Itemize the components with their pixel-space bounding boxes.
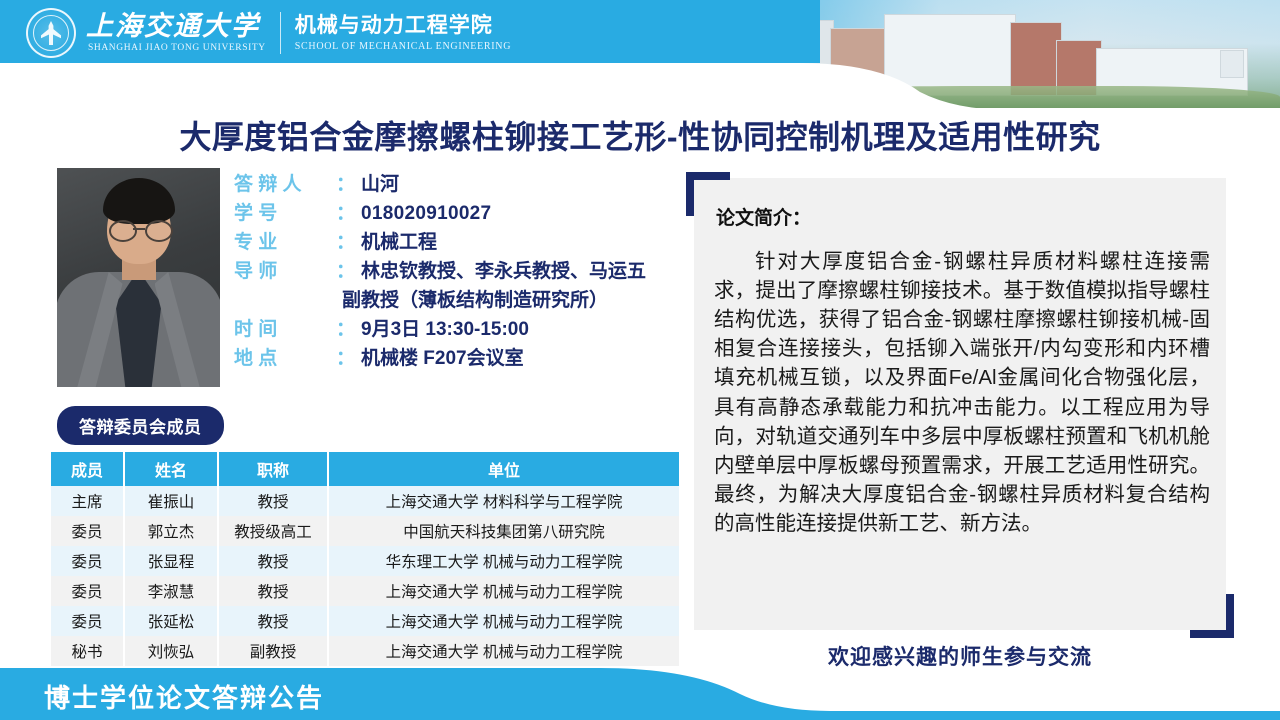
info-label-location: 地 点 (234, 346, 336, 371)
abstract-heading: 论文简介： (716, 203, 811, 230)
info-value-major: 机械工程 (361, 230, 437, 255)
cell-role: 委员 (51, 516, 124, 546)
university-name-block: 上海交通大学 Shanghai Jiao Tong University (76, 13, 266, 53)
defense-announcement-poster: 上海交通大学 Shanghai Jiao Tong University 机械与… (0, 0, 1280, 720)
campus-photo (660, 0, 1280, 108)
portrait-glasses-left (109, 220, 137, 242)
cell-title: 教授 (218, 606, 328, 636)
cell-org: 上海交通大学 机械与动力工程学院 (328, 606, 679, 636)
committee-badge: 答辩委员会成员 (57, 406, 224, 445)
table-row: 委员 李淑慧 教授 上海交通大学 机械与动力工程学院 (51, 576, 679, 606)
abstract-body: 针对大厚度铝合金-钢螺柱异质材料螺柱连接需求，提出了摩擦螺柱铆接技术。基于数值模… (714, 247, 1210, 538)
university-name-en: Shanghai Jiao Tong University (88, 43, 266, 53)
university-seal-icon (26, 8, 76, 58)
school-name-en: School of Mechanical Engineering (295, 41, 511, 52)
building-silhouette (1220, 50, 1244, 78)
building-silhouette (884, 14, 1016, 96)
table-header-row: 成员 姓名 职称 单位 (51, 452, 679, 486)
info-value-advisor: 林忠钦教授、李永兵教授、马运五 (361, 259, 646, 284)
info-label-major: 专 业 (234, 230, 336, 255)
cell-name: 李淑慧 (124, 576, 218, 606)
school-name-block: 机械与动力工程学院 School of Mechanical Engineeri… (295, 14, 511, 52)
info-value-location: 机械楼 F207会议室 (361, 346, 524, 371)
building-silhouette (780, 20, 834, 96)
info-colon: ： (336, 346, 355, 371)
footer-label: 博士学位论文答辩公告 (44, 678, 324, 715)
corner-bracket-bottom-right-icon (1190, 594, 1234, 638)
info-row-candidate: 答 辩 人 ： 山河 (234, 172, 694, 197)
table-col-role: 成员 (51, 452, 124, 486)
school-name-zh: 机械与动力工程学院 (295, 14, 511, 37)
info-value-advisor-cont: 副教授（薄板结构制造研究所） (342, 288, 694, 313)
info-value-time: 9月3日 13:30-15:00 (361, 317, 529, 342)
cell-name: 郭立杰 (124, 516, 218, 546)
committee-table-body: 主席 崔振山 教授 上海交通大学 材料科学与工程学院 委员 郭立杰 教授级高工 … (51, 486, 679, 666)
table-row: 委员 张延松 教授 上海交通大学 机械与动力工程学院 (51, 606, 679, 636)
table-col-org: 单位 (328, 452, 679, 486)
table-row: 主席 崔振山 教授 上海交通大学 材料科学与工程学院 (51, 486, 679, 516)
cell-title: 教授 (218, 576, 328, 606)
table-col-title: 职称 (218, 452, 328, 486)
portrait-hair (103, 178, 175, 224)
building-silhouette (1010, 22, 1062, 96)
info-label-candidate: 答 辩 人 (234, 172, 336, 197)
cell-org: 华东理工大学 机械与动力工程学院 (328, 546, 679, 576)
info-colon: ： (336, 259, 355, 284)
table-row: 委员 张显程 教授 华东理工大学 机械与动力工程学院 (51, 546, 679, 576)
building-silhouette (830, 28, 890, 96)
cell-role: 主席 (51, 486, 124, 516)
page-title: 大厚度铝合金摩擦螺柱铆接工艺形-性协同控制机理及适用性研究 (0, 112, 1280, 158)
candidate-portrait-photo (57, 168, 220, 387)
page-header: 上海交通大学 Shanghai Jiao Tong University 机械与… (0, 0, 1280, 110)
table-row: 委员 郭立杰 教授级高工 中国航天科技集团第八研究院 (51, 516, 679, 546)
tree-line (750, 86, 1280, 108)
info-row-advisor: 导 师 ： 林忠钦教授、李永兵教授、马运五 (234, 259, 694, 284)
cell-org: 上海交通大学 机械与动力工程学院 (328, 576, 679, 606)
seal-emblem-icon (41, 21, 61, 45)
cell-role: 委员 (51, 546, 124, 576)
cell-role: 委员 (51, 576, 124, 606)
info-colon: ： (336, 201, 355, 226)
info-row-time: 时 间 ： 9月3日 13:30-15:00 (234, 317, 694, 342)
defense-info-list: 答 辩 人 ： 山河 学 号 ： 018020910027 专 业 ： 机械工程… (234, 172, 694, 376)
cell-name: 崔振山 (124, 486, 218, 516)
page-footer: 博士学位论文答辩公告 (0, 662, 1280, 720)
logo-divider (280, 12, 281, 54)
university-name-zh: 上海交通大学 (86, 13, 266, 40)
info-row-location: 地 点 ： 机械楼 F207会议室 (234, 346, 694, 371)
info-colon: ： (336, 172, 355, 197)
table-col-name: 姓名 (124, 452, 218, 486)
info-colon: ： (336, 230, 355, 255)
cell-title: 教授 (218, 486, 328, 516)
portrait-glasses-right (145, 220, 173, 242)
cell-name: 张延松 (124, 606, 218, 636)
info-label-student-id: 学 号 (234, 201, 336, 226)
university-logo: 上海交通大学 Shanghai Jiao Tong University 机械与… (26, 8, 511, 58)
cell-org: 中国航天科技集团第八研究院 (328, 516, 679, 546)
cell-title: 教授 (218, 546, 328, 576)
info-row-student-id: 学 号 ： 018020910027 (234, 201, 694, 226)
committee-table: 成员 姓名 职称 单位 主席 崔振山 教授 上海交通大学 材料科学与工程学院 委… (51, 452, 679, 666)
info-value-student-id: 018020910027 (361, 201, 491, 226)
cell-role: 委员 (51, 606, 124, 636)
cell-org: 上海交通大学 材料科学与工程学院 (328, 486, 679, 516)
portrait-glasses-bridge (133, 228, 145, 230)
info-value-candidate: 山河 (361, 172, 399, 197)
info-row-major: 专 业 ： 机械工程 (234, 230, 694, 255)
cell-title: 教授级高工 (218, 516, 328, 546)
cell-name: 张显程 (124, 546, 218, 576)
info-label-time: 时 间 (234, 317, 336, 342)
info-colon: ： (336, 317, 355, 342)
info-label-advisor: 导 师 (234, 259, 336, 284)
